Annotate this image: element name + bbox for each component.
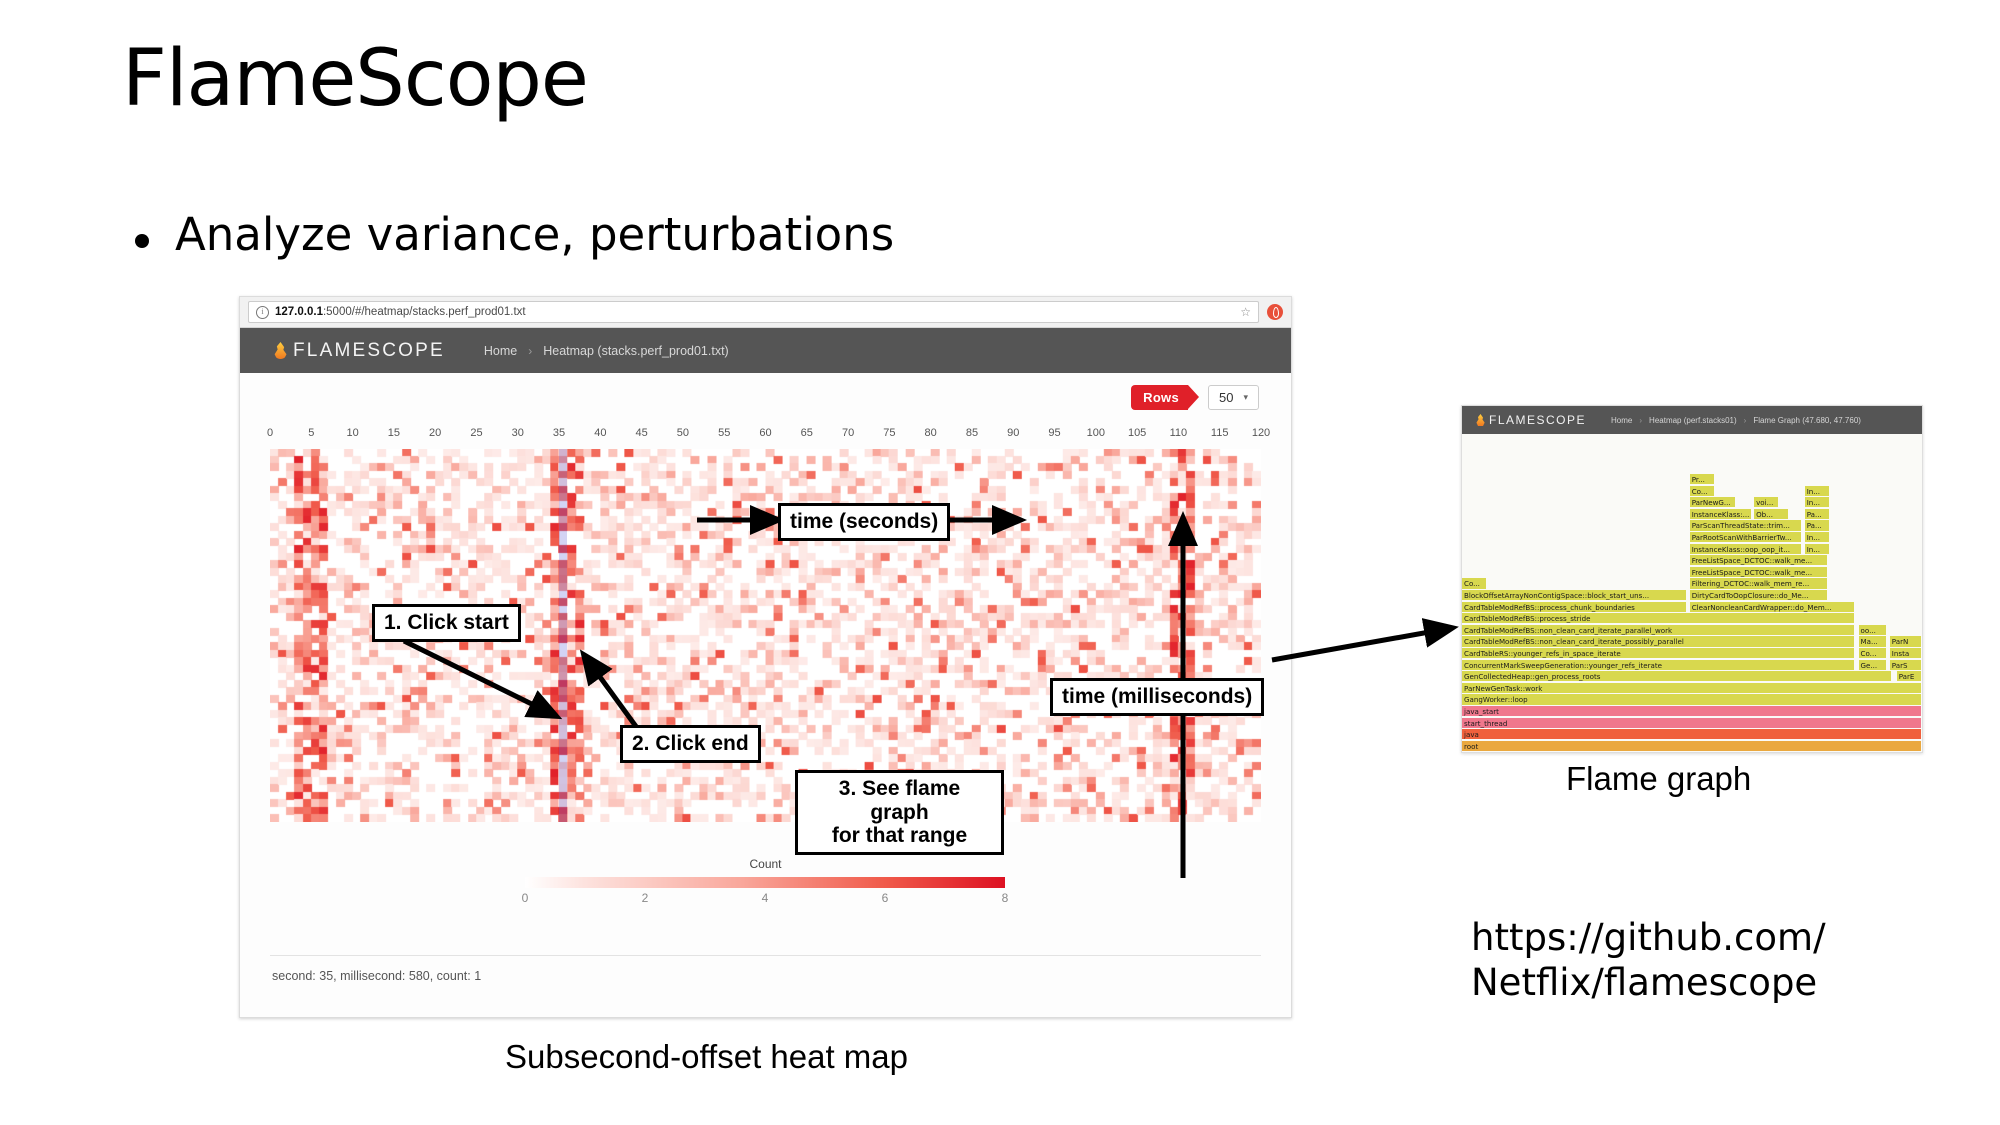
flame-graph-frame[interactable]: root <box>1462 741 1922 752</box>
flame-graph-frame[interactable]: voi... <box>1754 497 1779 508</box>
x-axis-tick: 95 <box>1048 427 1060 439</box>
flame-graph-frame[interactable]: In... <box>1805 497 1830 508</box>
flame-graph-frame[interactable]: Co... <box>1690 486 1715 497</box>
url-host: 127.0.0.1 <box>275 306 323 318</box>
flame-graph-window: FLAMESCOPE Home › Heatmap (perf.stacks01… <box>1461 405 1923 753</box>
heatmap-caption: Subsecond-offset heat map <box>505 1038 908 1076</box>
legend-tick: 8 <box>1002 891 1009 905</box>
flame-nav-link-flamegraph[interactable]: Flame Graph (47.680, 47.760) <box>1746 416 1868 425</box>
app-navbar: FLAMESCOPE Home › Heatmap (stacks.perf_p… <box>240 328 1291 373</box>
bullet-item-label: Analyze variance, perturbations <box>175 210 894 260</box>
flame-graph-frame[interactable]: ParRootScanWithBarrierTw... <box>1690 532 1803 543</box>
annotation-time-milliseconds: time (milliseconds) <box>1050 678 1264 716</box>
flame-graph-frame[interactable]: Pa... <box>1805 509 1830 520</box>
heatmap-to-flamegraph-arrow <box>1272 628 1452 660</box>
flame-graph-frame[interactable]: GenCollectedHeap::gen_process_roots <box>1462 671 1892 682</box>
x-axis-tick: 80 <box>925 427 937 439</box>
flame-graph-frame[interactable]: oo... <box>1859 625 1888 636</box>
flame-breadcrumb: Home › Heatmap (perf.stacks01) › Flame G… <box>1604 416 1868 425</box>
x-axis-tick: 120 <box>1252 427 1270 439</box>
flame-brand-name: FLAMESCOPE <box>1489 413 1586 427</box>
nav-link-heatmap[interactable]: Heatmap (stacks.perf_prod01.txt) <box>532 344 740 358</box>
flame-graph-frame[interactable]: ParS <box>1890 660 1922 671</box>
x-axis-tick: 105 <box>1128 427 1146 439</box>
flame-graph-frame[interactable]: ParN <box>1890 636 1922 647</box>
nav-link-home[interactable]: Home <box>473 344 528 358</box>
chevron-down-icon: ▾ <box>1243 392 1248 403</box>
url-path: :5000/#/heatmap/stacks.perf_prod01.txt <box>323 306 526 318</box>
bullet-list: Analyze variance, perturbations <box>135 210 894 260</box>
x-axis-tick: 75 <box>883 427 895 439</box>
annotation-see-flame-graph-line2: for that range <box>807 824 992 848</box>
flame-graph-frame[interactable]: java_start <box>1462 706 1922 717</box>
legend-title: Count <box>749 857 781 871</box>
x-axis-tick: 40 <box>594 427 606 439</box>
annotation-see-flame-graph-line1: 3. See flame graph <box>807 777 992 824</box>
github-url-line1: https://github.com/ <box>1471 915 1826 960</box>
legend-tick: 0 <box>522 891 529 905</box>
color-legend: Count 02468 <box>270 853 1261 917</box>
profile-avatar-icon[interactable] <box>1267 304 1283 320</box>
x-axis-tick: 45 <box>636 427 648 439</box>
annotation-see-flame-graph: 3. See flame graph for that range <box>795 770 1004 855</box>
x-axis-tick: 90 <box>1007 427 1019 439</box>
legend-tick: 6 <box>882 891 889 905</box>
divider <box>270 955 1261 956</box>
flame-graph-plot[interactable]: rootjavastart_threadjava_startGangWorker… <box>1462 434 1922 752</box>
x-axis-tick: 35 <box>553 427 565 439</box>
flame-graph-frame[interactable]: ClearNoncleanCardWrapper::do_Mem... <box>1690 602 1856 613</box>
x-axis-tick: 70 <box>842 427 854 439</box>
flame-graph-frame[interactable]: ParE <box>1897 671 1922 682</box>
x-axis-tick: 110 <box>1170 427 1188 439</box>
x-axis-tick: 55 <box>718 427 730 439</box>
annotation-click-end: 2. Click end <box>620 725 761 763</box>
x-axis-tick: 30 <box>512 427 524 439</box>
flame-graph-frame[interactable]: Insta <box>1890 648 1922 659</box>
github-url: https://github.com/ Netflix/flamescope <box>1471 915 1826 1005</box>
x-axis-tick: 60 <box>759 427 771 439</box>
flame-graph-frame[interactable]: ParNewGenTask::work <box>1462 683 1922 694</box>
browser-window: i 127.0.0.1:5000/#/heatmap/stacks.perf_p… <box>239 296 1292 1018</box>
flame-graph-frame[interactable]: CardTableModRefBS::process_chunk_boundar… <box>1462 602 1687 613</box>
flame-graph-frame[interactable]: In... <box>1805 544 1830 555</box>
rows-select[interactable]: 50 ▾ <box>1208 385 1259 410</box>
flame-graph-frame[interactable]: Ge... <box>1859 660 1888 671</box>
x-axis-tick: 20 <box>429 427 441 439</box>
flame-graph-frame[interactable]: CardTableModRefBS::process_stride <box>1462 613 1855 624</box>
site-info-icon[interactable]: i <box>256 306 269 319</box>
flame-graph-frame[interactable]: DirtyCardToOopClosure::do_Me... <box>1690 590 1828 601</box>
flame-graph-frame[interactable]: Co... <box>1462 578 1487 589</box>
rows-value: 50 <box>1219 390 1233 405</box>
flame-graph-frame[interactable]: ParNewG... <box>1690 497 1736 508</box>
flame-graph-frame[interactable]: CardTableModRefBS::non_clean_card_iterat… <box>1462 636 1855 647</box>
x-axis-tick: 25 <box>470 427 482 439</box>
legend-gradient-bar <box>525 877 1005 888</box>
flame-graph-frame[interactable]: FreeListSpace_DCTOC::walk_me... <box>1690 567 1828 578</box>
bullet-marker-icon <box>135 234 149 248</box>
flame-graph-frame[interactable]: Pa... <box>1805 520 1830 531</box>
flame-graph-frame[interactable]: Filtering_DCTOC::walk_mem_re... <box>1690 578 1828 589</box>
legend-tick: 2 <box>642 891 649 905</box>
flame-graph-frame[interactable]: Pr... <box>1690 474 1715 485</box>
brand[interactable]: FLAMESCOPE <box>274 340 445 362</box>
address-bar[interactable]: i 127.0.0.1:5000/#/heatmap/stacks.perf_p… <box>248 301 1259 323</box>
flame-graph-frame[interactable]: start_thread <box>1462 718 1922 729</box>
heatmap-x-axis: 0510152025303540455055606570758085909510… <box>270 427 1261 449</box>
flame-nav-link-home[interactable]: Home <box>1604 416 1639 425</box>
flame-graph-frame[interactable]: java <box>1462 729 1922 740</box>
breadcrumb: Home › Heatmap (stacks.perf_prod01.txt) <box>473 344 740 358</box>
flame-graph-frame[interactable]: BlockOffsetArrayNonContigSpace::block_st… <box>1462 590 1687 601</box>
legend-tick: 4 <box>762 891 769 905</box>
x-axis-tick: 50 <box>677 427 689 439</box>
flame-graph-frame[interactable]: CardTableModRefBS::non_clean_card_iterat… <box>1462 625 1855 636</box>
flame-graph-frame[interactable]: In... <box>1805 486 1830 497</box>
flame-graph-frame[interactable]: FreeListSpace_DCTOC::walk_me... <box>1690 555 1828 566</box>
x-axis-tick: 65 <box>801 427 813 439</box>
flame-graph-frame[interactable]: InstanceKlass::oop_oop_it... <box>1690 544 1803 555</box>
annotation-time-seconds: time (seconds) <box>778 503 950 541</box>
flame-graph-frame[interactable]: Ma... <box>1859 636 1888 647</box>
flame-brand[interactable]: FLAMESCOPE <box>1476 413 1586 427</box>
status-readout: second: 35, millisecond: 580, count: 1 <box>272 969 481 983</box>
flame-graph-frame[interactable]: InstanceKlass:... <box>1690 509 1752 520</box>
toolbar: Rows 50 ▾ <box>240 373 1291 427</box>
flame-graph-frame[interactable]: ParScanThreadState::trim... <box>1690 520 1803 531</box>
bookmark-star-icon[interactable]: ☆ <box>1234 305 1251 319</box>
flame-graph-frame[interactable]: ConcurrentMarkSweepGeneration::younger_r… <box>1462 660 1855 671</box>
x-axis-tick: 15 <box>388 427 400 439</box>
x-axis-tick: 0 <box>267 427 273 439</box>
rows-label: Rows <box>1131 385 1188 410</box>
x-axis-tick: 10 <box>346 427 358 439</box>
x-axis-tick: 5 <box>308 427 314 439</box>
flame-graph-frame[interactable]: Ob... <box>1754 509 1789 520</box>
browser-chrome: i 127.0.0.1:5000/#/heatmap/stacks.perf_p… <box>240 297 1291 328</box>
flame-graph-caption: Flame graph <box>1566 760 1751 798</box>
x-axis-tick: 115 <box>1211 427 1229 439</box>
flame-graph-frame[interactable]: In... <box>1805 532 1830 543</box>
x-axis-tick: 85 <box>966 427 978 439</box>
rows-control: Rows 50 ▾ <box>1131 385 1259 410</box>
annotation-click-start: 1. Click start <box>372 604 521 642</box>
flame-graph-frame[interactable]: CardTableRS::younger_refs_in_space_itera… <box>1462 648 1855 659</box>
flame-graph-frame[interactable]: Co... <box>1859 648 1888 659</box>
flame-nav-link-heatmap[interactable]: Heatmap (perf.stacks01) <box>1642 416 1744 425</box>
flame-graph-navbar: FLAMESCOPE Home › Heatmap (perf.stacks01… <box>1462 406 1922 434</box>
flame-logo-icon <box>274 342 287 359</box>
x-axis-tick: 100 <box>1087 427 1105 439</box>
flame-logo-icon <box>1476 414 1485 426</box>
page-title: FlameScope <box>122 40 588 118</box>
brand-name: FLAMESCOPE <box>293 340 445 362</box>
flame-graph-frame[interactable]: GangWorker::loop <box>1462 694 1922 705</box>
github-url-line2: Netflix/flamescope <box>1471 960 1826 1005</box>
url-text: 127.0.0.1:5000/#/heatmap/stacks.perf_pro… <box>275 306 526 318</box>
